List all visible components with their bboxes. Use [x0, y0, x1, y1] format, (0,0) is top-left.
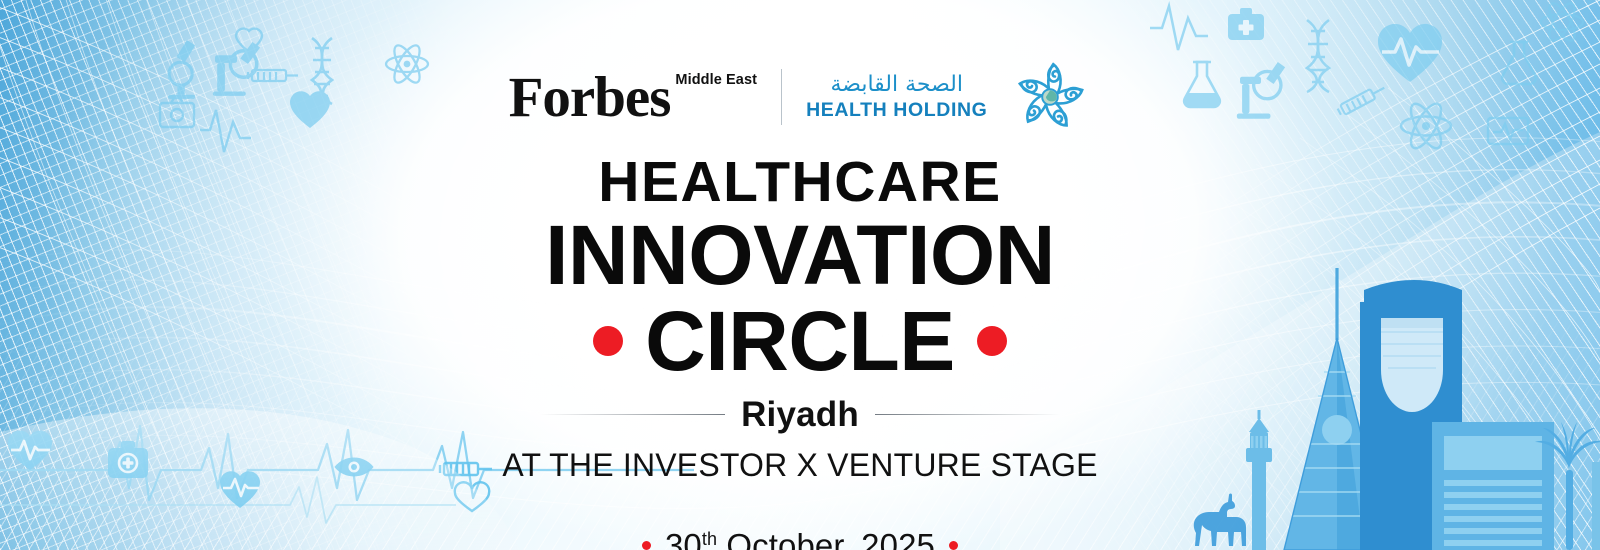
health-holding-logo[interactable]: الصحة القابضة HEALTH HOLDING: [806, 74, 987, 121]
headline-line-3: CIRCLE: [645, 297, 955, 385]
forbes-wordmark: Forbes: [509, 75, 671, 122]
red-dot-right-icon: [977, 326, 1007, 356]
logo-divider: [781, 69, 782, 125]
event-date: 30th October, 2025: [665, 527, 935, 550]
city-row: Riyadh: [540, 395, 1060, 435]
red-dot-left-icon: [593, 326, 623, 356]
date-ordinal: th: [702, 529, 717, 549]
rule-left: [540, 414, 725, 415]
forbes-logo[interactable]: Forbes Middle East: [509, 72, 757, 122]
headline-line-3-row: CIRCLE: [545, 297, 1055, 385]
headline-line-1: HEALTHCARE: [545, 154, 1055, 211]
five-petal-star-icon: [1009, 56, 1091, 138]
venue-label: AT THE INVESTOR X VENTURE STAGE: [502, 447, 1097, 484]
date-dot-right-icon: [949, 541, 958, 550]
date-dot-left-icon: [642, 541, 651, 550]
health-holding-english: HEALTH HOLDING: [806, 101, 987, 121]
forbes-edition-label: Middle East: [675, 72, 757, 88]
date-day: 30: [665, 527, 702, 550]
city-name: Riyadh: [741, 395, 859, 435]
health-holding-arabic: الصحة القابضة: [830, 74, 963, 96]
rule-right: [875, 414, 1060, 415]
event-date-row: 30th October, 2025: [642, 527, 958, 550]
event-banner: Forbes Middle East الصحة القابضة HEALTH …: [0, 0, 1600, 550]
date-rest: October, 2025: [717, 527, 935, 550]
event-headline: HEALTHCARE INNOVATION CIRCLE: [545, 154, 1055, 385]
headline-line-2: INNOVATION: [545, 213, 1055, 299]
logo-row: Forbes Middle East الصحة القابضة HEALTH …: [509, 56, 1092, 138]
